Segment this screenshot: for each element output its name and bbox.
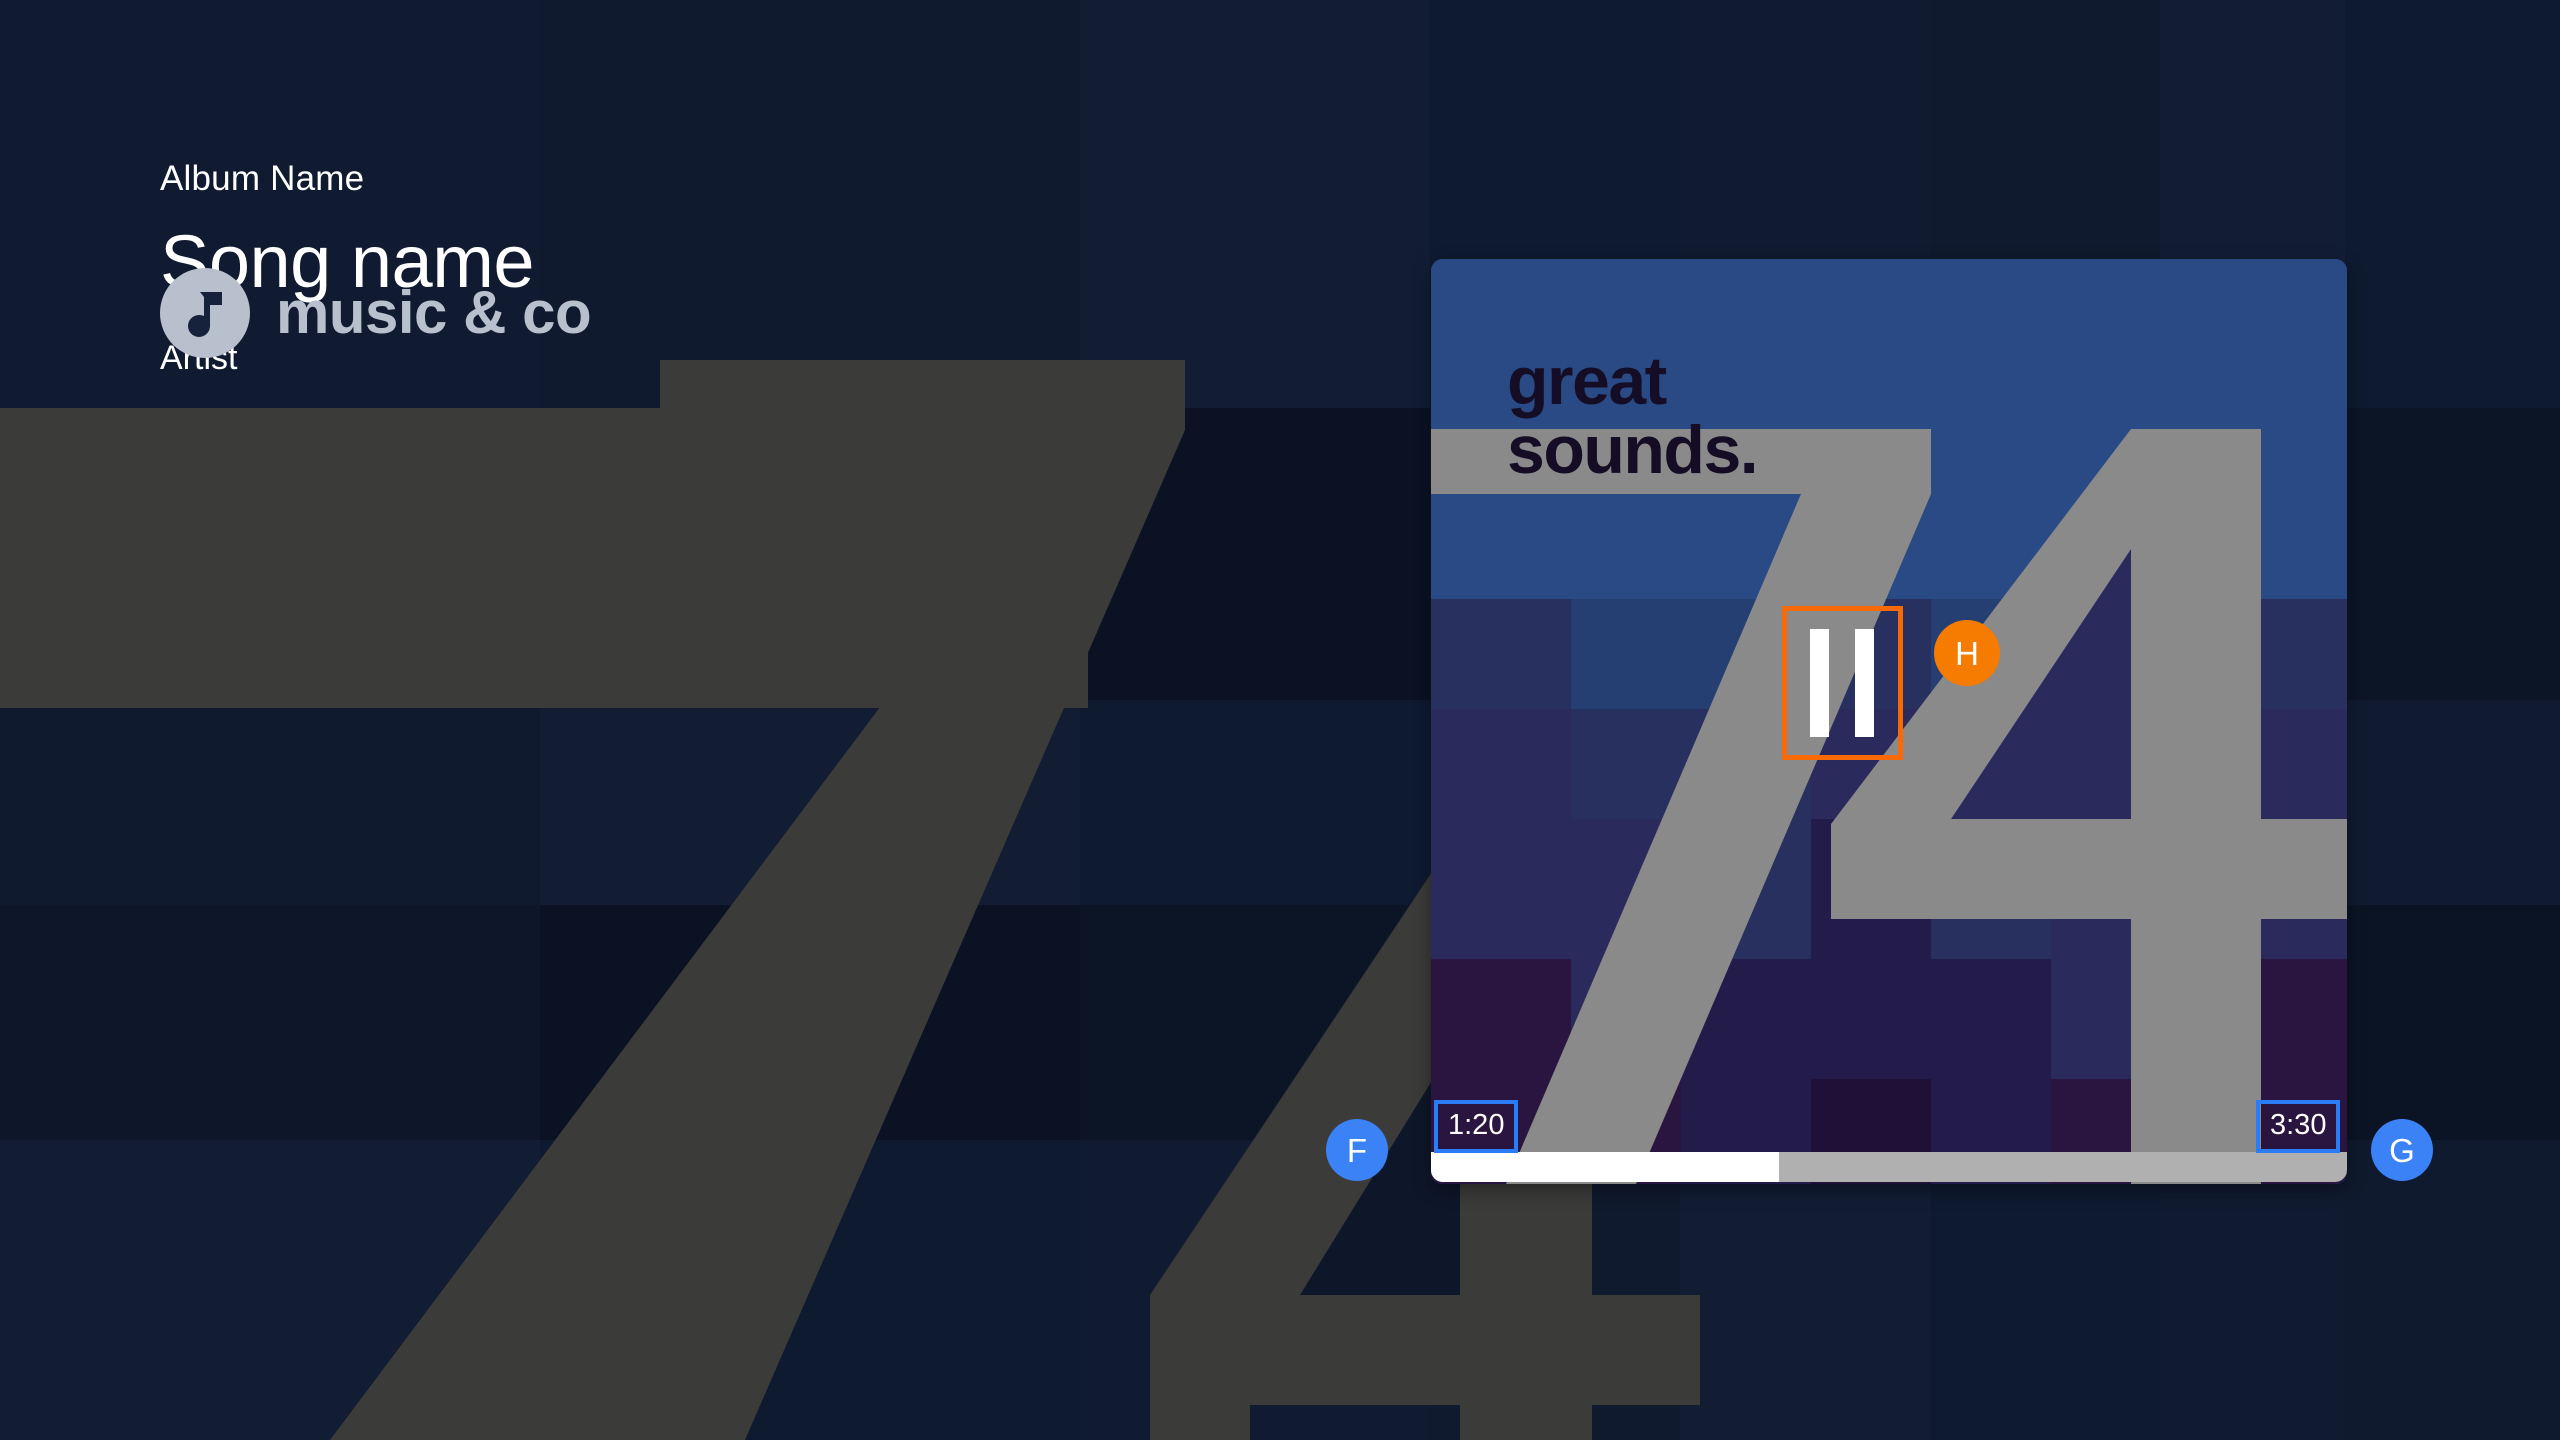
now-playing-panel bbox=[0, 408, 1088, 708]
background-tile bbox=[2345, 408, 2560, 700]
album-art-tile bbox=[1571, 819, 1681, 959]
background-tile bbox=[540, 0, 1080, 408]
background-tile bbox=[1080, 408, 1430, 700]
album-art-tile bbox=[1431, 484, 1571, 599]
pause-icon-bar-left bbox=[1810, 629, 1829, 737]
background-tile bbox=[0, 1140, 540, 1440]
background-tile bbox=[540, 700, 1080, 905]
album-art-tile bbox=[2191, 484, 2347, 599]
background-tile bbox=[1930, 1140, 2160, 1440]
album-art-tile bbox=[2191, 959, 2347, 1079]
album-art-tile bbox=[1931, 259, 2051, 484]
progress-bar-fill bbox=[1431, 1152, 1779, 1182]
album-art-tile bbox=[1571, 484, 1681, 599]
background-tile bbox=[2345, 0, 2560, 408]
background-tile bbox=[2345, 905, 2560, 1140]
pause-icon-bar-right bbox=[1855, 629, 1874, 737]
album-art-tile bbox=[2191, 709, 2347, 819]
pause-button[interactable] bbox=[1792, 616, 1892, 750]
headline-line-1: great bbox=[1507, 347, 1757, 416]
annotation-marker-h: H bbox=[1934, 620, 2000, 686]
album-art-tile bbox=[2051, 259, 2191, 484]
album-art-tile bbox=[1431, 599, 1571, 709]
album-art-headline: great sounds. bbox=[1507, 347, 1757, 486]
album-art-tile bbox=[1681, 959, 1811, 1079]
album-art-tile bbox=[2051, 959, 2191, 1079]
background-tile bbox=[1080, 1140, 1430, 1440]
album-art-tile bbox=[1571, 599, 1681, 709]
brand-name-label: music & co bbox=[276, 283, 591, 343]
background-tile bbox=[0, 905, 540, 1140]
progress-bar-track[interactable] bbox=[1431, 1152, 2347, 1182]
music-note-icon bbox=[160, 268, 250, 358]
background-tile bbox=[540, 905, 1080, 1140]
background-tile bbox=[1680, 1140, 1930, 1440]
album-art-tile bbox=[1931, 959, 2051, 1079]
album-art-tile bbox=[1931, 484, 2051, 599]
album-art-tile bbox=[1681, 819, 1811, 959]
background-tile bbox=[540, 1140, 1080, 1440]
background-tile bbox=[0, 700, 540, 905]
album-art-tile bbox=[1431, 709, 1571, 819]
headline-line-2: sounds. bbox=[1507, 416, 1757, 485]
background-tile bbox=[2345, 1140, 2560, 1440]
album-art-tile bbox=[1571, 959, 1681, 1079]
album-art-tile bbox=[2191, 599, 2347, 709]
annotation-marker-g: G bbox=[2371, 1119, 2433, 1181]
album-art-tile bbox=[1431, 959, 1571, 1079]
album-art-tile bbox=[1931, 709, 2051, 819]
annotation-marker-f: F bbox=[1326, 1119, 1388, 1181]
background-tile bbox=[1430, 1140, 1680, 1440]
background-tile bbox=[1080, 905, 1430, 1140]
album-art-tile bbox=[1931, 819, 2051, 959]
album-art-tile bbox=[2051, 709, 2191, 819]
panel-background bbox=[0, 408, 1088, 708]
current-time-label[interactable]: 1:20 bbox=[1434, 1100, 1518, 1153]
album-art-tile bbox=[1811, 259, 1931, 484]
album-art-tile bbox=[2051, 599, 2191, 709]
album-art-tile bbox=[1681, 484, 1811, 599]
album-art-tile bbox=[1811, 959, 1931, 1079]
album-name-label: Album Name bbox=[160, 160, 534, 199]
background-tile bbox=[2345, 700, 2560, 905]
album-art-tile bbox=[2051, 819, 2191, 959]
album-art-tile bbox=[1571, 709, 1681, 819]
album-art-tile bbox=[1431, 819, 1571, 959]
album-art-tile bbox=[2051, 484, 2191, 599]
brand-logo[interactable]: music & co bbox=[160, 268, 591, 358]
background-tile bbox=[1080, 0, 1430, 408]
background-tile bbox=[1080, 700, 1430, 905]
album-art-tile bbox=[2191, 819, 2347, 959]
album-art-tile bbox=[1811, 819, 1931, 959]
background-tile bbox=[2160, 1140, 2345, 1440]
album-art-tile bbox=[1811, 484, 1931, 599]
album-art-tile bbox=[2191, 259, 2347, 484]
total-time-label[interactable]: 3:30 bbox=[2256, 1100, 2340, 1153]
